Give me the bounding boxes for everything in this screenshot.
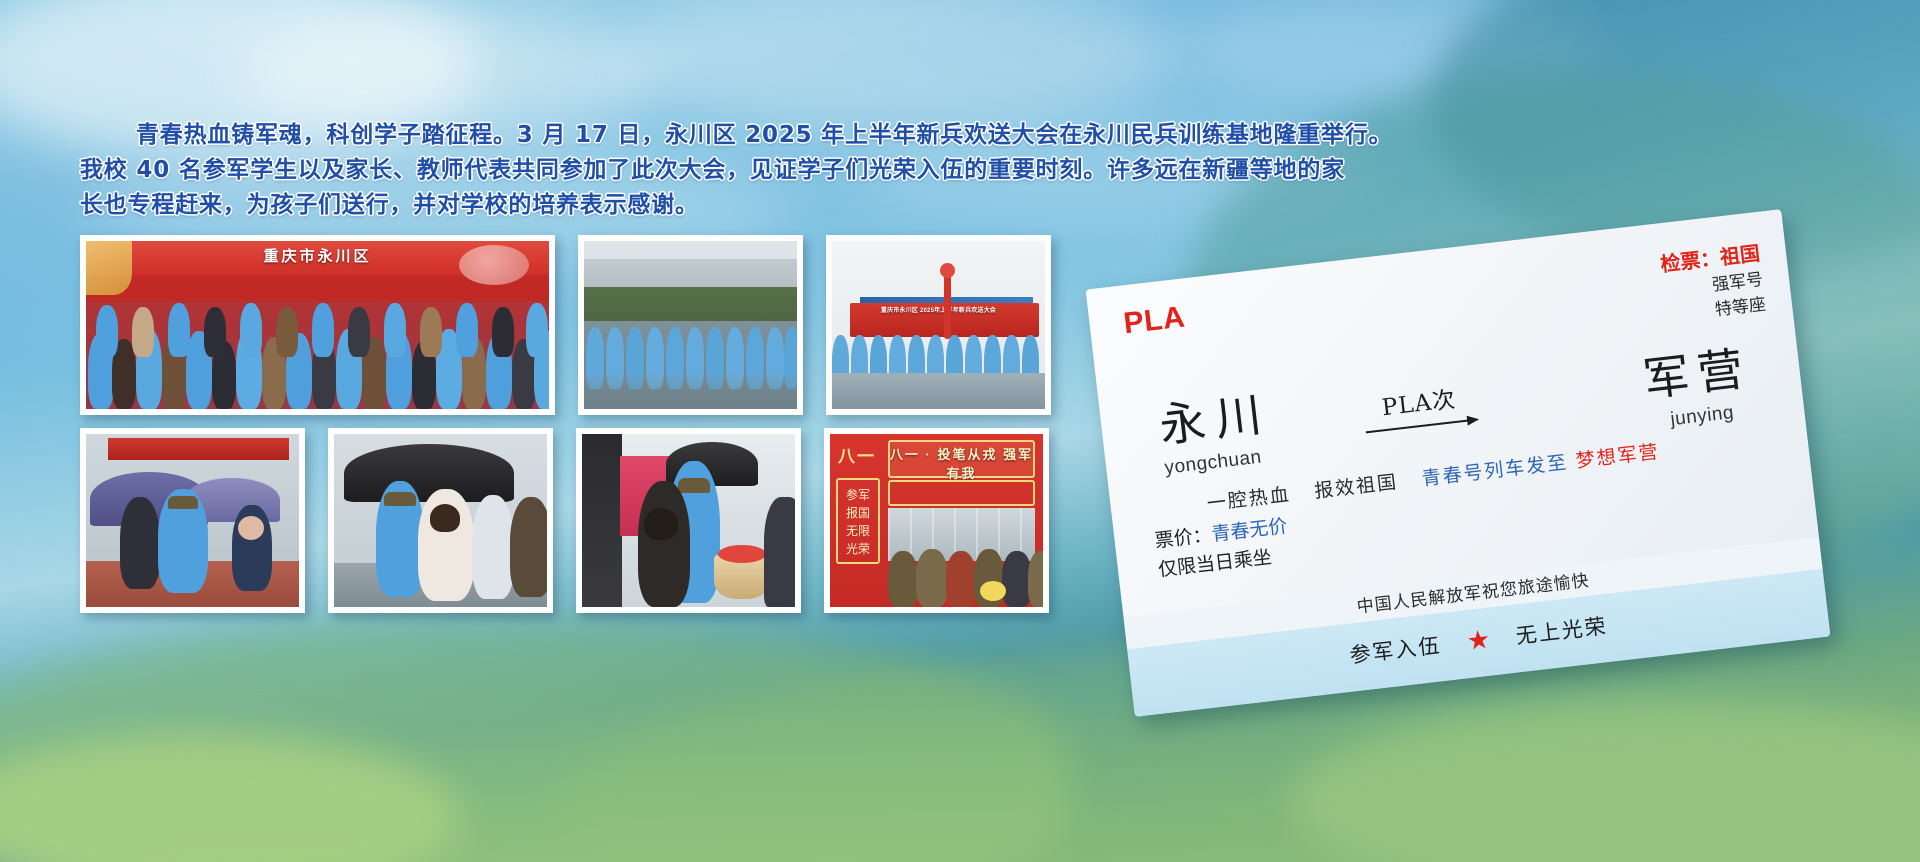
headline-line-2: 我校 40 名参军学生以及家长、教师代表共同参加了此次大会，见证学子们光荣入伍的… — [80, 153, 1500, 188]
photo-hug-flowers[interactable] — [576, 428, 801, 613]
headline-line-3: 长也专程赶来，为孩子们送行，并对学校的培养表示感谢。 — [80, 188, 1500, 223]
star-icon: ★ — [1465, 626, 1491, 655]
photo-bayi-backdrop[interactable]: 八一 八一 · 投笔从戎 强军有我 参军报国无限光荣 — [824, 428, 1049, 613]
ticket-brand-pla: PLA — [1122, 301, 1187, 342]
photo-content: 重庆市永川区 — [86, 241, 549, 409]
photo-formation-trees[interactable] — [578, 235, 803, 415]
headline-line-1: 青春热血铸军魂，科创学子踏征程。3 月 17 日，永川区 2025 年上半年新兵… — [80, 118, 1500, 153]
photo-content: 重庆市永川区 2025年上半年新兵欢送大会 — [832, 241, 1045, 409]
ticket-destination-cn: 军营 — [1640, 332, 1755, 410]
photo-umbrella-farewell[interactable] — [80, 428, 305, 613]
ticket-origin-cn: 永川 — [1156, 377, 1275, 455]
ticket-destination-station: 军营 junying — [1640, 332, 1758, 434]
photo-content — [334, 434, 547, 607]
photo-content — [86, 434, 299, 607]
ticket-origin-station: 永川 yongchuan — [1156, 377, 1278, 479]
ticket-check-info: 检票：祖国 强军号 特等座 — [1659, 240, 1767, 328]
photo-content: 八一 八一 · 投笔从戎 强军有我 参军报国无限光荣 — [830, 434, 1043, 607]
photo-content — [582, 434, 795, 607]
article-paragraph: 青春热血铸军魂，科创学子踏征程。3 月 17 日，永川区 2025 年上半年新兵… — [80, 118, 1500, 223]
photo-content — [584, 241, 797, 409]
photo-formation-stage[interactable]: 重庆市永川区 2025年上半年新兵欢送大会 — [826, 235, 1051, 415]
train-ticket-graphic[interactable]: PLA 检票：祖国 强军号 特等座 永川 yongchuan PLA次 军营 j… — [1086, 209, 1831, 717]
photo-black-umbrella[interactable] — [328, 428, 553, 613]
ticket-price-label: 票价： — [1154, 525, 1213, 552]
photo-group-banner[interactable]: 重庆市永川区 — [80, 235, 555, 415]
ticket-price-value: 青春无价 — [1210, 516, 1288, 546]
